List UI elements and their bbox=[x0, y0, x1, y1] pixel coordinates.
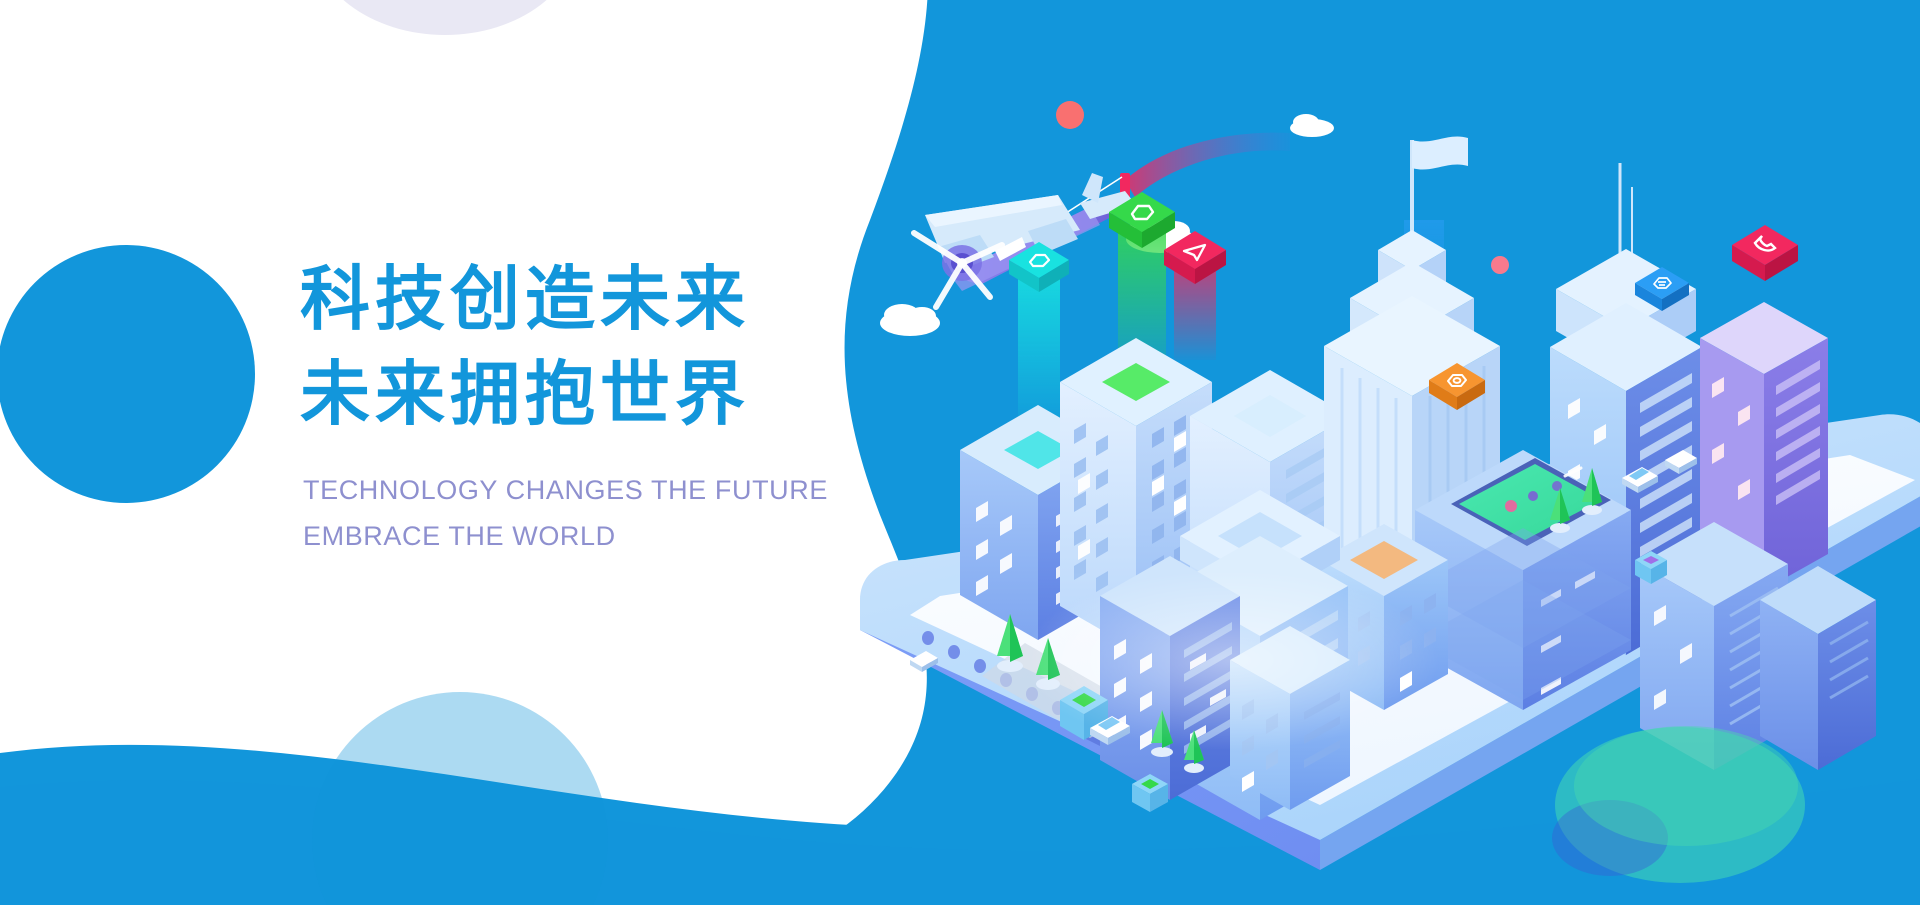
headline-line-2: 未来拥抱世界 bbox=[300, 347, 940, 442]
airplane-icon bbox=[914, 133, 1290, 307]
dot-pink-icon bbox=[1491, 256, 1509, 274]
phone-badge bbox=[1732, 225, 1798, 281]
page-subtitle: TECHNOLOGY CHANGES THE FUTURE EMBRACE TH… bbox=[303, 467, 923, 560]
subtitle-line-2: EMBRACE THE WORLD bbox=[303, 513, 923, 559]
headline-line-1: 科技创造未来 bbox=[300, 252, 940, 347]
teal-blob-decoration bbox=[1380, 600, 1920, 905]
flag-icon bbox=[1412, 136, 1468, 169]
cloud-icon bbox=[1290, 114, 1334, 137]
banner-canvas: 科技创造未来 未来拥抱世界 TECHNOLOGY CHANGES THE FUT… bbox=[0, 0, 1920, 905]
page-title: 科技创造未来 未来拥抱世界 bbox=[300, 252, 940, 442]
subtitle-line-1: TECHNOLOGY CHANGES THE FUTURE bbox=[303, 467, 923, 513]
plane-banner bbox=[1125, 133, 1290, 197]
lavender-circle-decoration bbox=[310, 0, 580, 35]
bottom-circle-decoration bbox=[250, 690, 670, 905]
dot-coral-icon bbox=[1056, 101, 1084, 129]
blue-circle-decoration bbox=[0, 245, 255, 503]
